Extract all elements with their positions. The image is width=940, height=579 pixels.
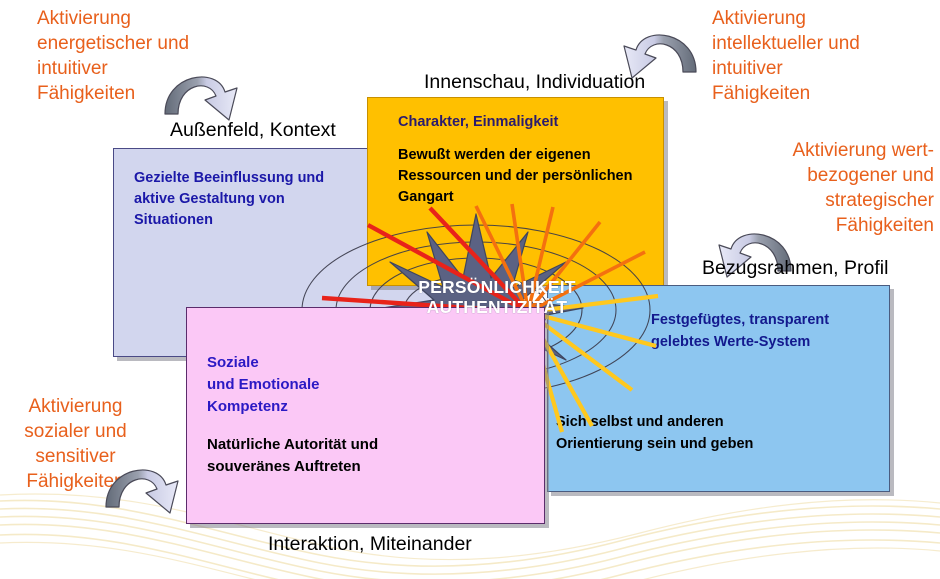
box-pink-text: Natürliche Autorität und souveränes Auft…: [207, 434, 526, 478]
outer-label-innenschau-individuation: Innenschau, Individuation: [424, 71, 645, 94]
box-innenschau-individuation[interactable]: Charakter, Einmaligkeit Bewußt werden de…: [367, 97, 664, 286]
box-bezugsrahmen-profil[interactable]: Festgefügtes, transparent gelebtes Werte…: [547, 285, 890, 492]
activation-label-top-right: Aktivierung intellektueller und intuitiv…: [712, 6, 860, 106]
box-yellow-text: Bewußt werden der eigenen Ressourcen und…: [398, 145, 649, 208]
box-blue-heading: Festgefügtes, transparent gelebtes Werte…: [651, 310, 829, 354]
diagram-canvas: Aktivierung energetischer und intuitiver…: [0, 0, 940, 579]
outer-label-bezugsrahmen-profil: Bezugsrahmen, Profil: [702, 257, 888, 280]
box-blue-text: Sich selbst und anderen Orientierung sei…: [556, 412, 753, 456]
box-yellow-heading: Charakter, Einmaligkeit: [398, 112, 649, 133]
outer-label-aussenfeld-kontext: Außenfeld, Kontext: [170, 119, 336, 142]
box-interaktion-miteinander[interactable]: Soziale und Emotionale Kompetenz Natürli…: [186, 307, 545, 524]
curved-arrow-icon-bottom-left: [100, 455, 188, 521]
box-pink-heading: Soziale und Emotionale Kompetenz: [207, 352, 526, 417]
outer-label-interaktion-miteinander: Interaktion, Miteinander: [268, 533, 472, 556]
